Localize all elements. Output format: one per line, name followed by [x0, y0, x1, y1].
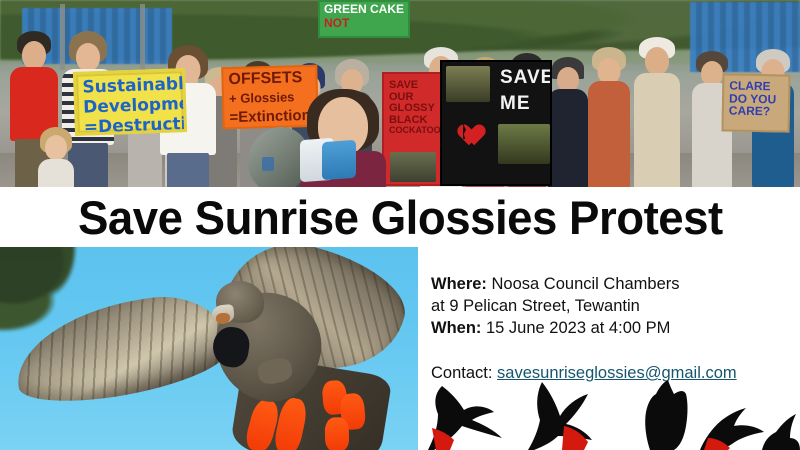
sign-line: Sustainable — [82, 76, 177, 96]
sign-bird-photo — [446, 66, 490, 102]
crowd-child — [38, 127, 74, 187]
sign-bird-photo — [498, 124, 550, 164]
megaphone-icon — [248, 127, 364, 187]
event-details-panel: Where: Noosa Council Chambers at 9 Pelic… — [418, 247, 800, 450]
sign-sustainable-development: Sustainable Development =Destruction — [73, 68, 187, 136]
sign-line: ME — [500, 94, 531, 113]
when-label: When: — [431, 319, 481, 337]
bottom-section: Where: Noosa Council Chambers at 9 Pelic… — [0, 247, 800, 450]
sign-clare-do-you-care: CLARE DO YOU CARE? — [721, 73, 790, 132]
sign-save-me: SAVE ME — [440, 60, 552, 186]
sign-line: Development — [83, 96, 178, 116]
title-band: Save Sunrise Glossies Protest — [0, 187, 800, 247]
when-value: 15 June 2023 at 4:00 PM — [486, 319, 670, 337]
cockatoo-flight-photo — [0, 247, 418, 450]
crowd-person — [548, 53, 588, 187]
sign-line: NOT — [324, 17, 404, 29]
protest-photo: Sustainable Development =Destruction OFF… — [0, 0, 800, 187]
sign-line: CARE? — [729, 105, 783, 119]
cockatoo-silhouettes — [424, 380, 800, 450]
poster: Sustainable Development =Destruction OFF… — [0, 0, 800, 450]
sign-bird-photo — [390, 152, 436, 182]
where-line-2: at 9 Pelican Street, Tewantin — [431, 295, 800, 317]
broken-heart-icon — [452, 116, 478, 139]
where-line: Where: Noosa Council Chambers — [431, 273, 800, 295]
sign-line: OFFSETS — [228, 70, 310, 88]
sign-line: + Glossies — [229, 90, 311, 105]
page-title: Save Sunrise Glossies Protest — [78, 190, 723, 245]
when-line: When: 15 June 2023 at 4:00 PM — [431, 317, 800, 339]
left-wing — [8, 287, 236, 412]
sign-green-cake: GREEN CAKE NOT — [318, 0, 410, 38]
crowd-person — [588, 47, 630, 187]
event-details-text: Where: Noosa Council Chambers at 9 Pelic… — [431, 273, 800, 339]
silhouette-svg — [424, 380, 800, 450]
sign-line: SAVE — [500, 68, 552, 87]
fence-post — [140, 4, 145, 70]
where-label: Where: — [431, 275, 487, 293]
where-value: Noosa Council Chambers — [492, 275, 680, 293]
sign-line: GREEN CAKE — [324, 3, 404, 15]
crowd-person — [634, 37, 680, 187]
glossy-black-cockatoo — [0, 247, 418, 450]
